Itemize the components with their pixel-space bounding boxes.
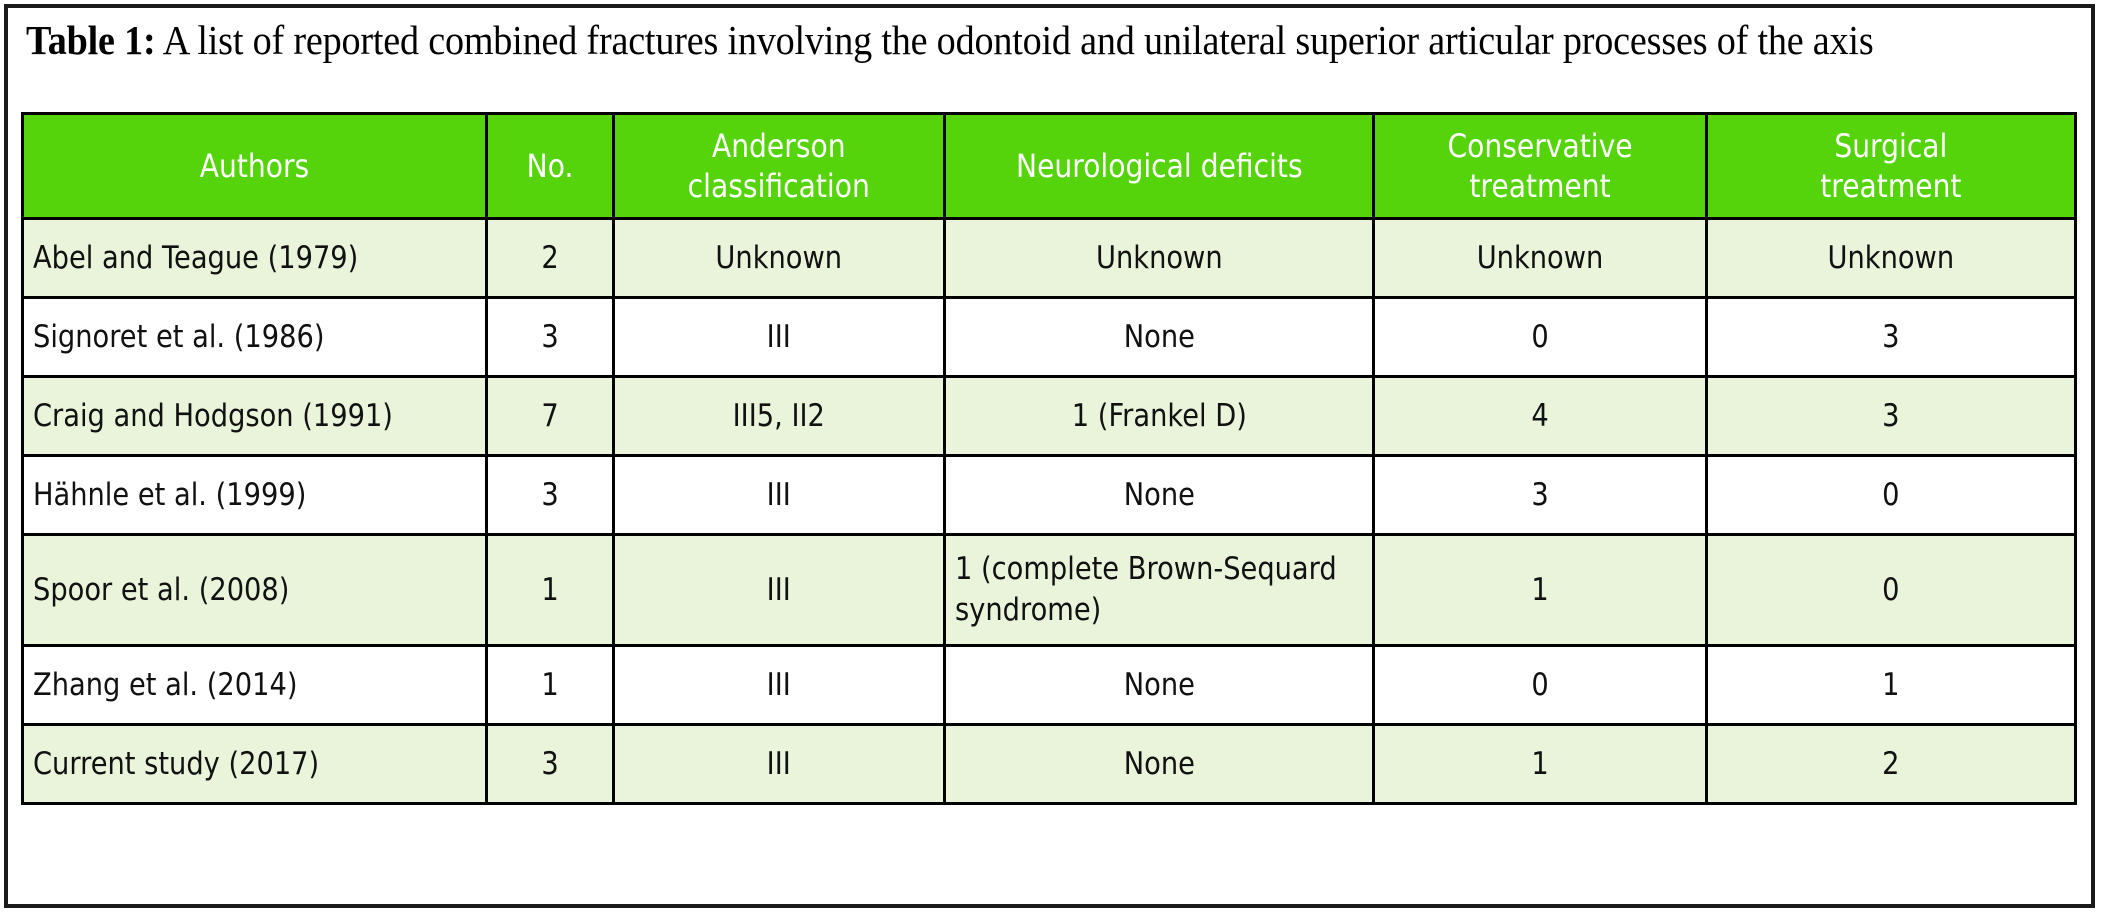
table-figure-page: Table 1: A list of reported combined fra… — [4, 4, 2095, 908]
cell-surgical: 0 — [1707, 456, 2076, 535]
cell-text-surgical: 0 — [1730, 570, 2052, 611]
cell-conservative: 0 — [1374, 646, 1707, 725]
cell-text-conservative: Unknown — [1395, 238, 1685, 279]
cell-text-conservative: 1 — [1395, 744, 1685, 785]
cell-conservative: 1 — [1374, 725, 1707, 804]
cell-text-no: 3 — [495, 744, 604, 785]
cell-text-conservative: 0 — [1395, 317, 1685, 358]
column-header-no: No. — [486, 114, 613, 219]
table-header: Authors No. Anderson classification Neur… — [23, 114, 2076, 219]
table-header-row: Authors No. Anderson classification Neur… — [23, 114, 2076, 219]
cell-text-conservative: 1 — [1395, 570, 1685, 611]
cell-anderson: III5, II2 — [614, 377, 945, 456]
cell-anderson: III — [614, 298, 945, 377]
cell-anderson: III — [614, 535, 945, 646]
cell-text-no: 7 — [495, 396, 604, 437]
cell-text-neuro: 1 (Frankel D) — [971, 396, 1346, 437]
cell-text-conservative: 3 — [1395, 475, 1685, 516]
cell-text-neuro: Unknown — [971, 238, 1346, 279]
table-row: Zhang et al. (2014) 1 III None 0 1 — [23, 646, 2076, 725]
cell-authors: Spoor et al. (2008) — [23, 535, 487, 646]
cell-neuro: None — [944, 298, 1374, 377]
cell-no: 3 — [486, 298, 613, 377]
cell-text-authors: Zhang et al. (2014) — [33, 665, 431, 706]
cell-neuro: None — [944, 456, 1374, 535]
header-label-no: No. — [495, 146, 604, 186]
cell-surgical: 2 — [1707, 725, 2076, 804]
cell-text-surgical: 3 — [1730, 396, 2052, 437]
cell-text-no: 3 — [495, 317, 604, 358]
cell-text-neuro: 1 (complete Brown-Sequard syndrome) — [955, 549, 1370, 631]
cell-neuro: 1 (complete Brown-Sequard syndrome) — [944, 535, 1374, 646]
cell-neuro: None — [944, 646, 1374, 725]
cell-text-conservative: 4 — [1395, 396, 1685, 437]
column-header-anderson-classification: Anderson classification — [614, 114, 945, 219]
table-container: Authors No. Anderson classification Neur… — [21, 112, 2077, 805]
cell-text-surgical: 2 — [1730, 744, 2052, 785]
cell-neuro: Unknown — [944, 219, 1374, 298]
cell-text-neuro: None — [971, 665, 1346, 706]
column-header-neurological-deficits: Neurological deficits — [944, 114, 1374, 219]
cell-text-anderson: III — [635, 665, 923, 706]
table-row: Hähnle et al. (1999) 3 III None 3 0 — [23, 456, 2076, 535]
cell-no: 7 — [486, 377, 613, 456]
table-body: Abel and Teague (1979) 2 Unknown Unknown… — [23, 219, 2076, 804]
cell-text-surgical: 1 — [1730, 665, 2052, 706]
cell-text-conservative: 0 — [1395, 665, 1685, 706]
header-label-authors: Authors — [52, 146, 458, 186]
cell-text-authors: Signoret et al. (1986) — [33, 317, 431, 358]
cell-text-neuro: None — [971, 475, 1346, 516]
cell-text-no: 1 — [495, 665, 604, 706]
cell-text-anderson: III5, II2 — [635, 396, 923, 437]
cell-anderson: Unknown — [614, 219, 945, 298]
cell-conservative: 3 — [1374, 456, 1707, 535]
cell-text-authors: Abel and Teague (1979) — [33, 238, 431, 279]
cell-no: 3 — [486, 725, 613, 804]
table-caption: Table 1: A list of reported combined fra… — [26, 14, 1914, 66]
cell-surgical: Unknown — [1707, 219, 2076, 298]
header-label-anderson-line1: Anderson — [635, 126, 923, 166]
header-label-conservative-line1: Conservative — [1395, 126, 1685, 166]
cell-surgical: 1 — [1707, 646, 2076, 725]
cell-anderson: III — [614, 725, 945, 804]
cell-neuro: None — [944, 725, 1374, 804]
cell-neuro: 1 (Frankel D) — [944, 377, 1374, 456]
column-header-conservative-treatment: Conservative treatment — [1374, 114, 1707, 219]
cell-surgical: 3 — [1707, 298, 2076, 377]
cell-no: 1 — [486, 646, 613, 725]
cell-text-authors: Current study (2017) — [33, 744, 431, 785]
cell-conservative: 4 — [1374, 377, 1707, 456]
cell-text-anderson: III — [635, 317, 923, 358]
cell-authors: Signoret et al. (1986) — [23, 298, 487, 377]
cell-authors: Hähnle et al. (1999) — [23, 456, 487, 535]
cell-text-anderson: III — [635, 475, 923, 516]
cell-text-surgical: Unknown — [1730, 238, 2052, 279]
cell-text-anderson: III — [635, 744, 923, 785]
column-header-surgical-treatment: Surgical treatment — [1707, 114, 2076, 219]
cell-authors: Current study (2017) — [23, 725, 487, 804]
table-row: Abel and Teague (1979) 2 Unknown Unknown… — [23, 219, 2076, 298]
header-label-surgical-line2: treatment — [1730, 166, 2052, 206]
cell-authors: Craig and Hodgson (1991) — [23, 377, 487, 456]
cell-text-anderson: Unknown — [635, 238, 923, 279]
cell-authors: Zhang et al. (2014) — [23, 646, 487, 725]
cell-anderson: III — [614, 646, 945, 725]
header-label-neuro: Neurological deficits — [971, 146, 1346, 186]
cell-text-neuro: None — [971, 317, 1346, 358]
table-row: Craig and Hodgson (1991) 7 III5, II2 1 (… — [23, 377, 2076, 456]
cell-text-surgical: 3 — [1730, 317, 2052, 358]
cell-no: 2 — [486, 219, 613, 298]
cell-anderson: III — [614, 456, 945, 535]
cell-text-anderson: III — [635, 570, 923, 611]
table-row: Spoor et al. (2008) 1 III 1 (complete Br… — [23, 535, 2076, 646]
cell-text-no: 2 — [495, 238, 604, 279]
cell-text-no: 1 — [495, 570, 604, 611]
cell-text-authors: Hähnle et al. (1999) — [33, 475, 431, 516]
header-label-conservative-line2: treatment — [1395, 166, 1685, 206]
cell-no: 1 — [486, 535, 613, 646]
cell-text-no: 3 — [495, 475, 604, 516]
cell-text-authors: Spoor et al. (2008) — [33, 570, 431, 611]
table-row: Signoret et al. (1986) 3 III None 0 3 — [23, 298, 2076, 377]
cell-no: 3 — [486, 456, 613, 535]
cell-conservative: 0 — [1374, 298, 1707, 377]
header-label-surgical-line1: Surgical — [1730, 126, 2052, 166]
table-row: Current study (2017) 3 III None 1 2 — [23, 725, 2076, 804]
cell-text-surgical: 0 — [1730, 475, 2052, 516]
cell-surgical: 0 — [1707, 535, 2076, 646]
cell-text-neuro: None — [971, 744, 1346, 785]
caption-text: A list of reported combined fractures in… — [156, 17, 1874, 63]
reported-fractures-table: Authors No. Anderson classification Neur… — [21, 112, 2077, 805]
cell-conservative: Unknown — [1374, 219, 1707, 298]
column-header-authors: Authors — [23, 114, 487, 219]
cell-surgical: 3 — [1707, 377, 2076, 456]
cell-conservative: 1 — [1374, 535, 1707, 646]
cell-authors: Abel and Teague (1979) — [23, 219, 487, 298]
header-label-anderson-line2: classification — [635, 166, 923, 206]
caption-label: Table 1: — [26, 17, 156, 63]
cell-text-authors: Craig and Hodgson (1991) — [33, 396, 431, 437]
